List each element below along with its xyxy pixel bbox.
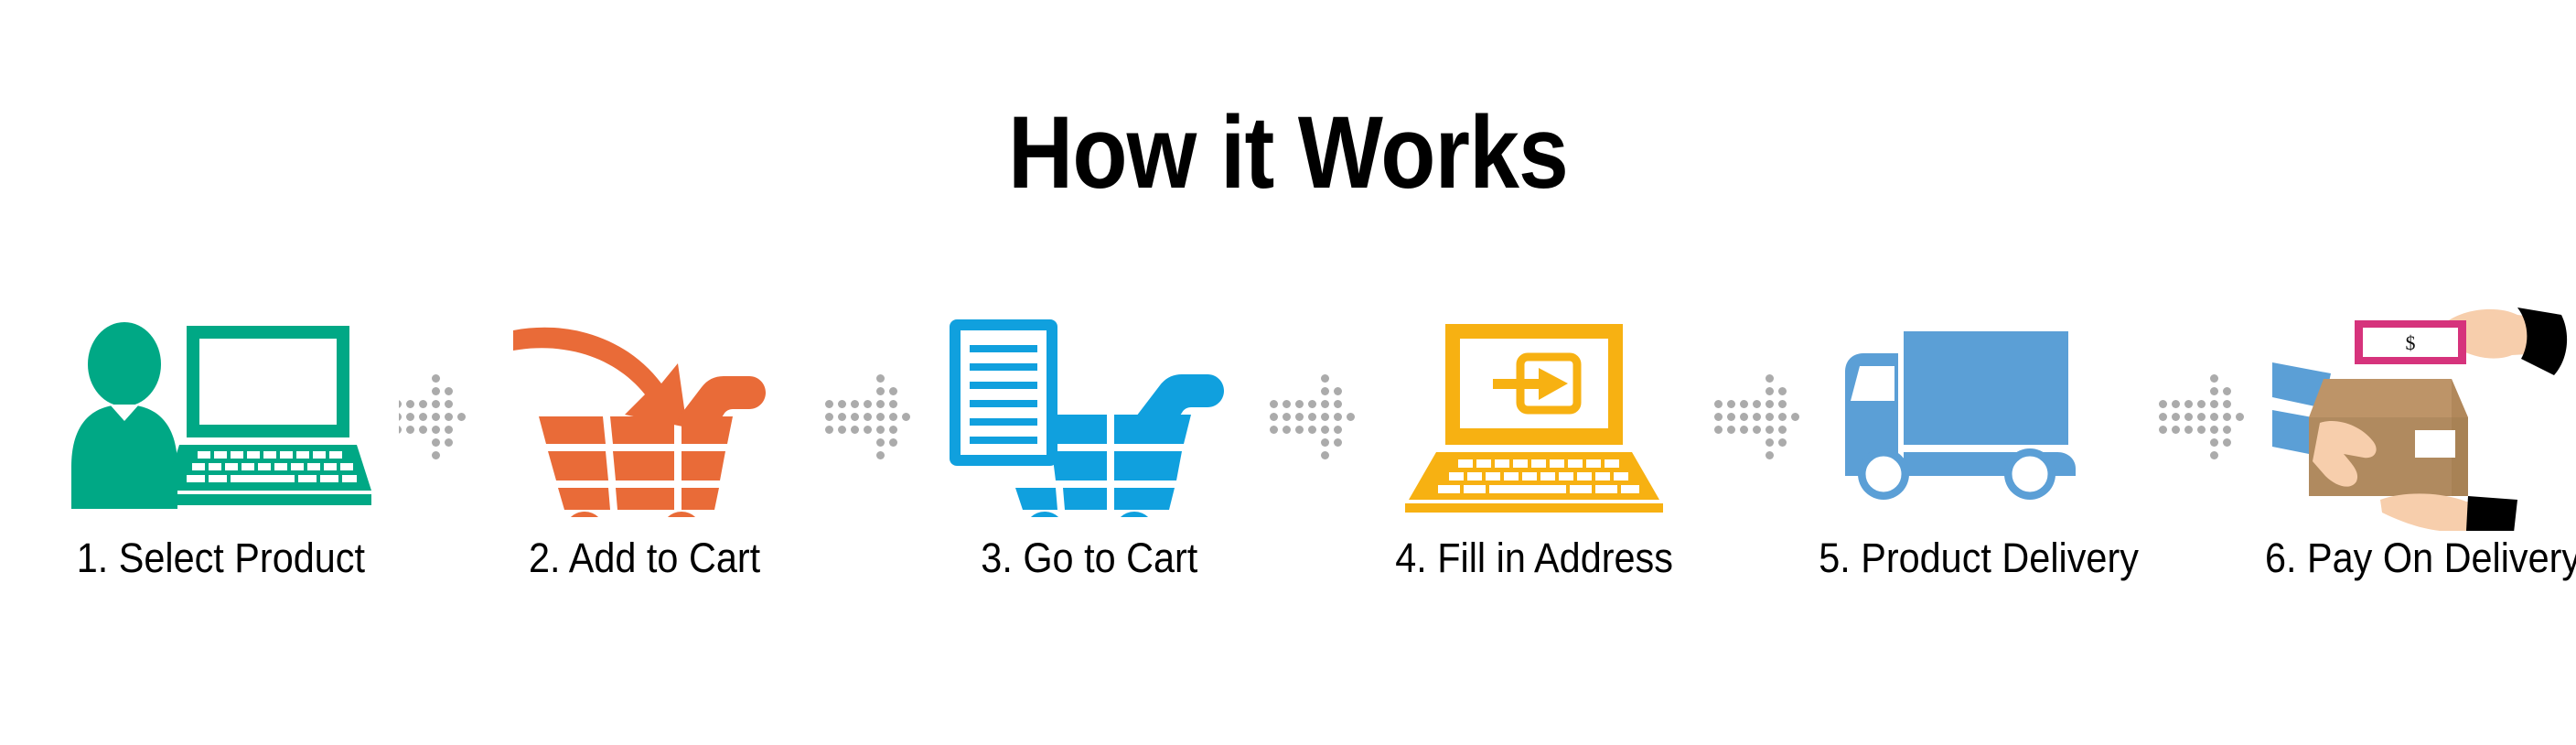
dotted-arrow-separator (399, 302, 467, 531)
step-product-delivery[interactable]: 5. Product Delivery (1800, 302, 2157, 613)
step-label: 2. Add to Cart (529, 534, 760, 582)
arrow-right-dotted-icon (1267, 372, 1357, 461)
cart-with-arrow-icon (467, 302, 823, 531)
delivery-truck-icon (1800, 302, 2157, 531)
dotted-arrow-separator (823, 302, 911, 531)
step-select-product[interactable]: 1. Select Product (42, 302, 399, 613)
laptop-login-icon (1356, 302, 1712, 531)
step-pay-on-delivery[interactable]: $ (2245, 302, 2576, 613)
how-it-works-infographic: How it Works (0, 0, 2576, 745)
step-label: 6. Pay On Delivery (2265, 534, 2576, 582)
svg-text:$: $ (2406, 331, 2416, 354)
arrow-right-dotted-icon (399, 372, 467, 461)
step-go-to-cart[interactable]: 3. Go to Cart (911, 302, 1268, 613)
dotted-arrow-separator (1268, 302, 1356, 531)
steps-row: 1. Select Product (42, 302, 2534, 613)
arrow-right-dotted-icon (822, 372, 912, 461)
arrow-right-dotted-icon (1712, 372, 1801, 461)
hands-exchanging-box-and-money-icon: $ (2245, 302, 2576, 531)
step-fill-in-address[interactable]: 4. Fill in Address (1356, 302, 1712, 613)
person-with-laptop-icon (42, 302, 399, 531)
document-with-cart-icon (911, 302, 1268, 531)
step-label: 1. Select Product (76, 534, 364, 582)
step-add-to-cart[interactable]: 2. Add to Cart (467, 302, 823, 613)
dotted-arrow-separator (1712, 302, 1800, 531)
page-title: How it Works (155, 99, 2421, 207)
arrow-right-dotted-icon (2156, 372, 2246, 461)
dotted-arrow-separator (2157, 302, 2245, 531)
step-label: 5. Product Delivery (1819, 534, 2139, 582)
step-label: 3. Go to Cart (981, 534, 1197, 582)
step-label: 4. Fill in Address (1395, 534, 1673, 582)
